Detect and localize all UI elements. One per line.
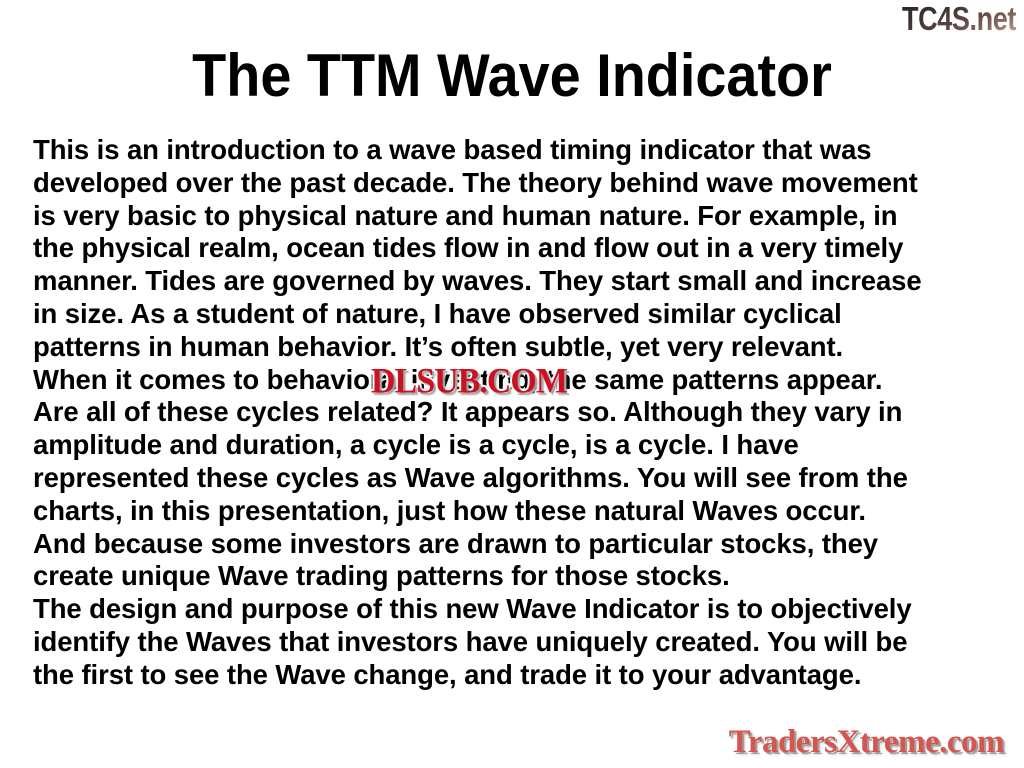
page-title: The TTM Wave Indicator — [36, 44, 988, 108]
body-line: is very basic to physical nature and hum… — [33, 200, 1001, 233]
body-line: charts, in this presentation, just how t… — [33, 495, 1001, 528]
body-line: manner. Tides are governed by waves. The… — [33, 265, 1001, 298]
body-line: amplitude and duration, a cycle is a cyc… — [33, 429, 1001, 462]
body-line: This is an introduction to a wave based … — [33, 134, 1001, 167]
body-line: in size. As a student of nature, I have … — [33, 298, 1001, 331]
paragraph-2: The design and purpose of this new Wave … — [33, 593, 1001, 691]
body-line: the first to see the Wave change, and tr… — [33, 659, 1001, 692]
body-line: And because some investors are drawn to … — [33, 528, 1001, 561]
body-line: patterns in human behavior. It’s often s… — [33, 331, 1001, 364]
body-line: developed over the past decade. The theo… — [33, 167, 1001, 200]
tc4s-net-logo: TC4S.net — [902, 2, 1016, 35]
body-line: create unique Wave trading patterns for … — [33, 560, 1001, 593]
tradersxtreme-com-logo: TradersXtreme.com — [729, 724, 1004, 760]
body-line: Are all of these cycles related? It appe… — [33, 396, 1001, 429]
body-line: the physical realm, ocean tides flow in … — [33, 232, 1001, 265]
slide-canvas: TC4S.net The TTM Wave Indicator This is … — [0, 0, 1024, 768]
body-line: identify the Waves that investors have u… — [33, 626, 1001, 659]
body-line: represented these cycles as Wave algorit… — [33, 462, 1001, 495]
body-line: The design and purpose of this new Wave … — [33, 593, 1001, 626]
body-copy: This is an introduction to a wave based … — [33, 134, 1001, 692]
dlsub-com-watermark: DLSUB.COM — [371, 364, 567, 400]
